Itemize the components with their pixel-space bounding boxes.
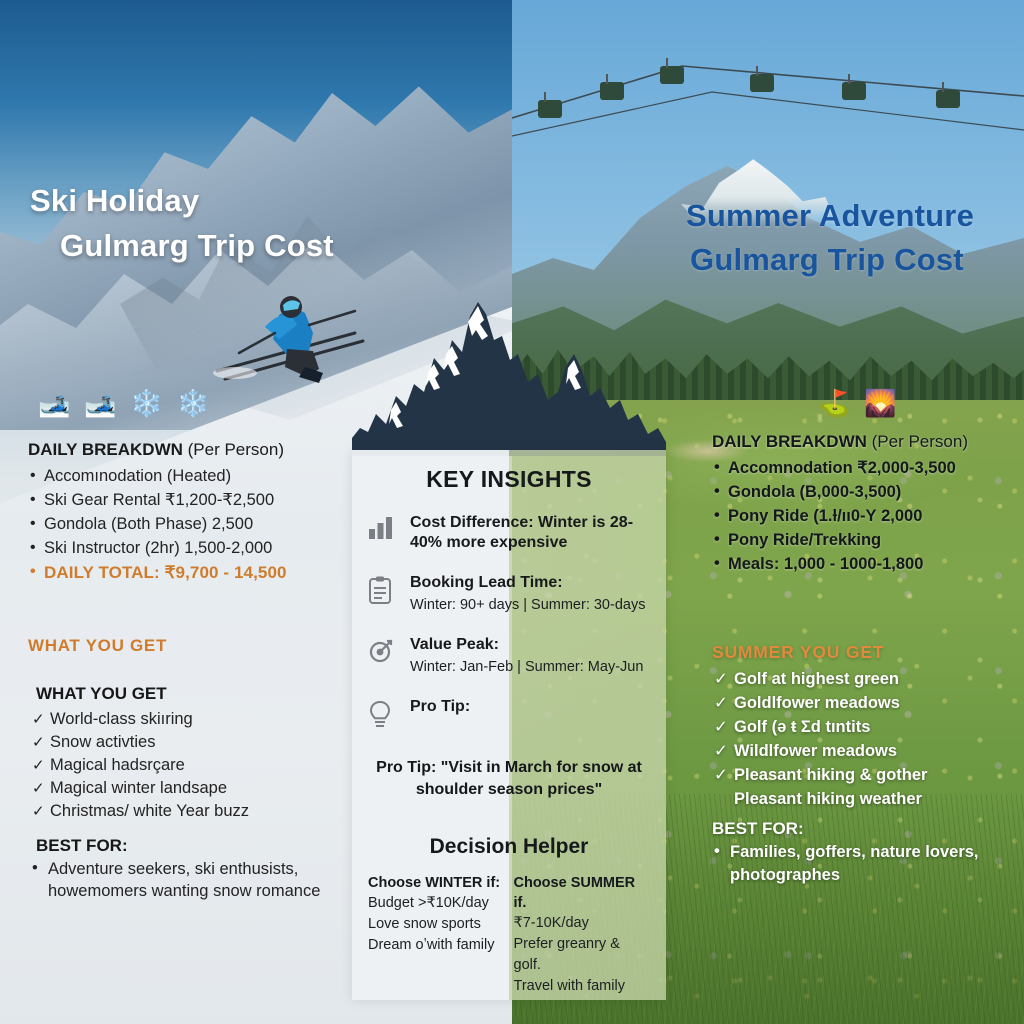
winter-title: Ski Holiday Gulmarg Trip Cost [30, 178, 334, 268]
summer-best-for-heading: BEST FOR: [712, 819, 1012, 839]
skier-illustration [205, 275, 375, 385]
list-item: Accomnodation ₹2,000-3,500 [712, 456, 1012, 480]
winter-daily-total: DAILY TOTAL: ₹9,700 - 14,500 [28, 561, 358, 584]
gondola-cable-icon [512, 0, 1024, 160]
skis-icon: 🎿 [38, 390, 70, 416]
insight-pro-tip: Pro Tip: [368, 697, 650, 735]
winter-section-heading-orange: WHAT YOU GET [28, 636, 358, 656]
list-item: Golf (ə ŧ Ʃd tıntits [712, 715, 1012, 739]
list-item: World-class skiıring [28, 708, 358, 731]
decision-summer-line: Travel with family [514, 976, 651, 997]
winter-breakdown-heading: DAILY BREAKDWN (Per Person) [28, 440, 358, 460]
summer-title-line2: Gulmarg Trip Cost [686, 238, 974, 282]
decision-summer-column: Choose SUMMER if. ₹7-10K/day Prefer grea… [505, 873, 651, 997]
insight-booking-lead-time: Booking Lead Time: Winter: 90+ days | Su… [368, 573, 650, 615]
insight-title: Value Peak: [410, 635, 650, 655]
summer-section-heading-orange: SUMMER YOU GET [712, 642, 1012, 663]
list-item: Golf at highest green [712, 667, 1012, 691]
mountain-silhouette-icon [352, 296, 666, 456]
winter-breakdown-list: Accomınodation (Heated) Ski Gear Rental … [28, 465, 358, 584]
summer-breakdown-heading-sub: (Per Person) [867, 432, 968, 451]
summer-breakdown-list: Accomnodation ₹2,000-3,500 Gondola (B,00… [712, 456, 1012, 576]
infographic-canvas: Ski Holiday Gulmarg Trip Cost Summer Adv… [0, 0, 1024, 1024]
summer-content: DAILY BREAKDWN (Per Person) Accomnodatio… [712, 432, 1012, 887]
winter-breakdown-heading-sub: (Per Person) [183, 440, 284, 459]
insight-value-peak: Value Peak: Winter: Jan-Feb | Summer: Ma… [368, 635, 650, 677]
list-item: Pony Ride/Trekking [712, 528, 1012, 552]
winter-title-line1: Ski Holiday [30, 178, 334, 223]
decision-winter-heading: Choose WINTER if: [368, 873, 505, 893]
list-item: Gondola (Both Phase) 2,500 [28, 513, 358, 536]
insight-subtitle: Winter: Jan-Feb | Summer: May-Jun [410, 657, 650, 677]
list-item: Meals: 1,000 - 1000-1,800 [712, 552, 1012, 576]
list-item: Christmas/ white Year buzz [28, 800, 358, 823]
golf-flag-icon: ⛳ [818, 390, 850, 416]
winter-content: DAILY BREAKDWN (Per Person) Accomınodati… [28, 440, 358, 902]
summer-title: Summer Adventure Gulmarg Trip Cost [686, 194, 974, 282]
clipboard-icon [368, 573, 398, 609]
insight-body: Cost Difference: Winter is 28-40% more e… [410, 513, 650, 553]
snowflake-icon: ❄️ [131, 390, 163, 416]
list-item: Ski Instructor (2hr) 1,500-2,000 [28, 537, 358, 560]
winter-icon-row: 🎿 🎿 ❄️ ❄️ [38, 390, 210, 416]
list-item: Adventure seekers, ski enthusists, howem… [28, 858, 358, 902]
bar-chart-icon [368, 513, 398, 545]
summer-icon-row: ⛳ 🌄 [818, 390, 897, 416]
list-item: Goldlfower meadows [712, 691, 1012, 715]
decision-summer-heading: Choose SUMMER if. [514, 873, 651, 913]
summer-what-you-get-list: Golf at highest green Goldlfower meadows… [712, 667, 1012, 811]
summer-best-for-list: Families, goffers, nature lovers, photog… [712, 841, 1012, 887]
list-item: Accomınodation (Heated) [28, 465, 358, 488]
lightbulb-icon [368, 697, 398, 735]
decision-helper-columns: Choose WINTER if: Budget >₹10K/day Love … [368, 873, 650, 997]
decision-winter-line: Dream oʽwith family [368, 935, 505, 956]
decision-winter-line: Love snow sports [368, 914, 505, 935]
decision-summer-line: Prefer greanry & golf. [514, 934, 651, 976]
decision-summer-line: ₹7-10K/day [514, 913, 651, 934]
list-item: Gondola (B,000-3,500) [712, 480, 1012, 504]
key-insights-panel: KEY INSIGHTS Cost Difference: Winter is … [352, 450, 666, 1000]
decision-helper-title: Decision Helper [368, 835, 650, 859]
snowflake-icon: ❄️ [177, 390, 209, 416]
winter-title-line2: Gulmarg Trip Cost [30, 223, 334, 268]
sunrise-over-mountains-icon: 🌄 [864, 390, 896, 416]
crossed-skis-icon: 🎿 [84, 390, 116, 416]
insight-body: Value Peak: Winter: Jan-Feb | Summer: Ma… [410, 635, 650, 677]
insight-subtitle: Winter: 90+ days | Summer: 30-days [410, 595, 650, 615]
winter-what-you-get-heading: WHAT YOU GET [28, 684, 358, 704]
list-item: Wildlfower meadows [712, 739, 1012, 763]
list-item: Snow activties [28, 731, 358, 754]
winter-what-you-get-list: World-class skiıring Snow activties Magi… [28, 708, 358, 823]
list-item: Magical hadsrçare [28, 754, 358, 777]
target-icon [368, 635, 398, 669]
list-item: Magical winter landsape [28, 777, 358, 800]
pro-tip-text: Pro Tip: "Visit in March for snow at sho… [368, 757, 650, 801]
insight-title: Booking Lead Time: [410, 573, 650, 593]
list-item: Pony Ride (1.ƚ/ıı0-Υ 2,000 [712, 504, 1012, 528]
insight-body: Booking Lead Time: Winter: 90+ days | Su… [410, 573, 650, 615]
winter-best-for-heading: BEST FOR: [28, 836, 358, 856]
summer-breakdown-heading-main: DAILY BREAKDWN [712, 432, 867, 451]
list-item: Ski Gear Rental ₹1,200-₹2,500 [28, 489, 358, 512]
key-insights-title: KEY INSIGHTS [368, 466, 650, 493]
winter-breakdown-heading-main: DAILY BREAKDWN [28, 440, 183, 459]
insight-title: Cost Difference: Winter is 28-40% more e… [410, 513, 650, 553]
winter-best-for-list: Adventure seekers, ski enthusists, howem… [28, 858, 358, 902]
list-item: Pleasant hiking weather [712, 787, 1012, 811]
summer-title-line1: Summer Adventure [686, 194, 974, 238]
decision-winter-column: Choose WINTER if: Budget >₹10K/day Love … [368, 873, 505, 997]
list-item: Families, goffers, nature lovers, photog… [712, 841, 1012, 887]
insight-title: Pro Tip: [410, 697, 650, 717]
insight-cost-difference: Cost Difference: Winter is 28-40% more e… [368, 513, 650, 553]
insight-body: Pro Tip: [410, 697, 650, 717]
summer-breakdown-heading: DAILY BREAKDWN (Per Person) [712, 432, 1012, 452]
list-item: Pleasant hiking & gother [712, 763, 1012, 787]
decision-winter-line: Budget >₹10K/day [368, 893, 505, 914]
